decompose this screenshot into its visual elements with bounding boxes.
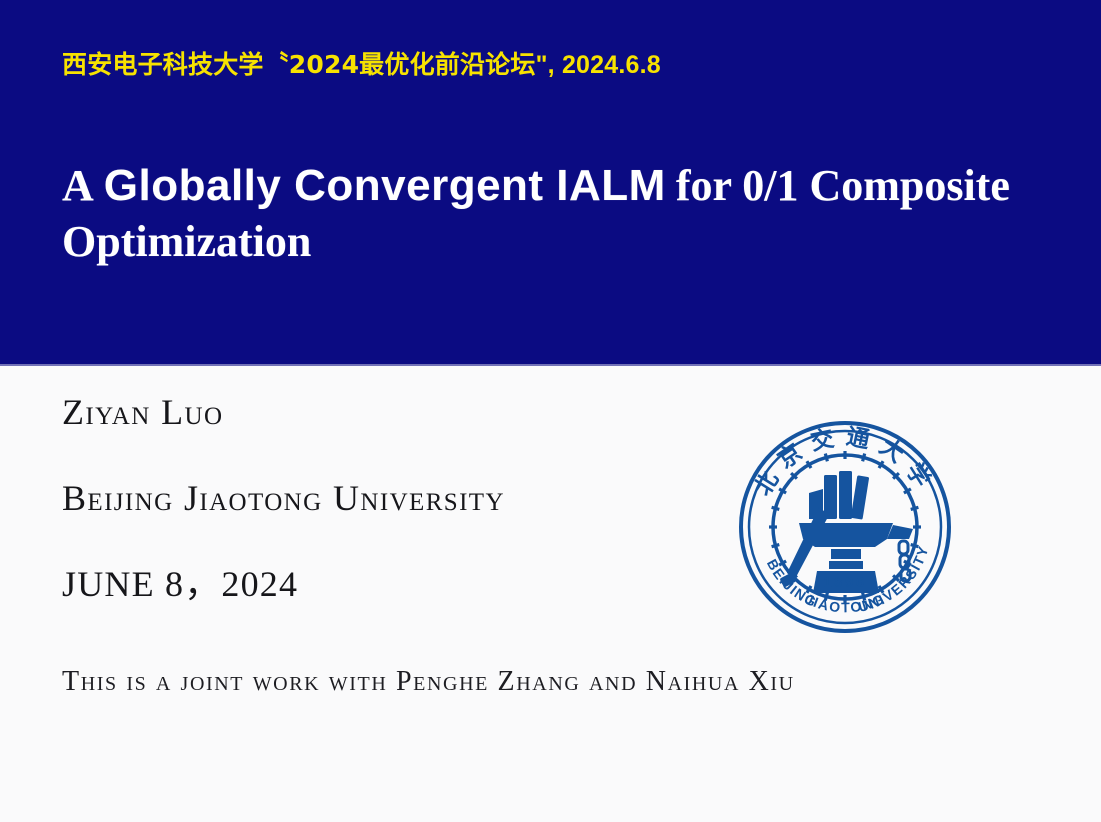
university-logo: 1896 北京交通大学 BEIJING JIAOTONG UNIVERSITY bbox=[737, 419, 953, 635]
author-block: Ziyan Luo Beijing Jiaotong University Ju… bbox=[62, 390, 712, 606]
page-title: AGlobally Convergent IALMfor 0/1 Composi… bbox=[62, 158, 1052, 270]
affiliation: Beijing Jiaotong University bbox=[62, 476, 712, 520]
conference-date: ", 2024.6.8 bbox=[536, 51, 661, 79]
title-article: A bbox=[62, 161, 94, 210]
title-line-2: Optimization bbox=[62, 214, 1052, 270]
title-line-1: AGlobally Convergent IALMfor 0/1 Composi… bbox=[62, 158, 1052, 214]
author-name: Ziyan Luo bbox=[62, 390, 712, 434]
presentation-title-slide: 西安电子科技大学〝2024最优化前沿论坛", 2024.6.8 AGloball… bbox=[0, 0, 1101, 822]
title-banner: 西安电子科技大学〝2024最优化前沿论坛", 2024.6.8 AGloball… bbox=[0, 0, 1101, 366]
title-tail-phrase: for 0/1 Composite bbox=[676, 161, 1010, 210]
conference-header: 西安电子科技大学〝2024最优化前沿论坛", 2024.6.8 bbox=[62, 50, 661, 80]
joint-work-note: This is a joint work with Penghe Zhang a… bbox=[62, 666, 795, 698]
title-main-phrase: Globally Convergent IALM bbox=[104, 161, 666, 210]
presentation-date: June 8，2024 bbox=[62, 562, 712, 606]
logo-founded-year: 1896 bbox=[823, 574, 866, 591]
conference-name-cn: 西安电子科技大学〝2024最优化前沿论坛 bbox=[62, 50, 536, 79]
